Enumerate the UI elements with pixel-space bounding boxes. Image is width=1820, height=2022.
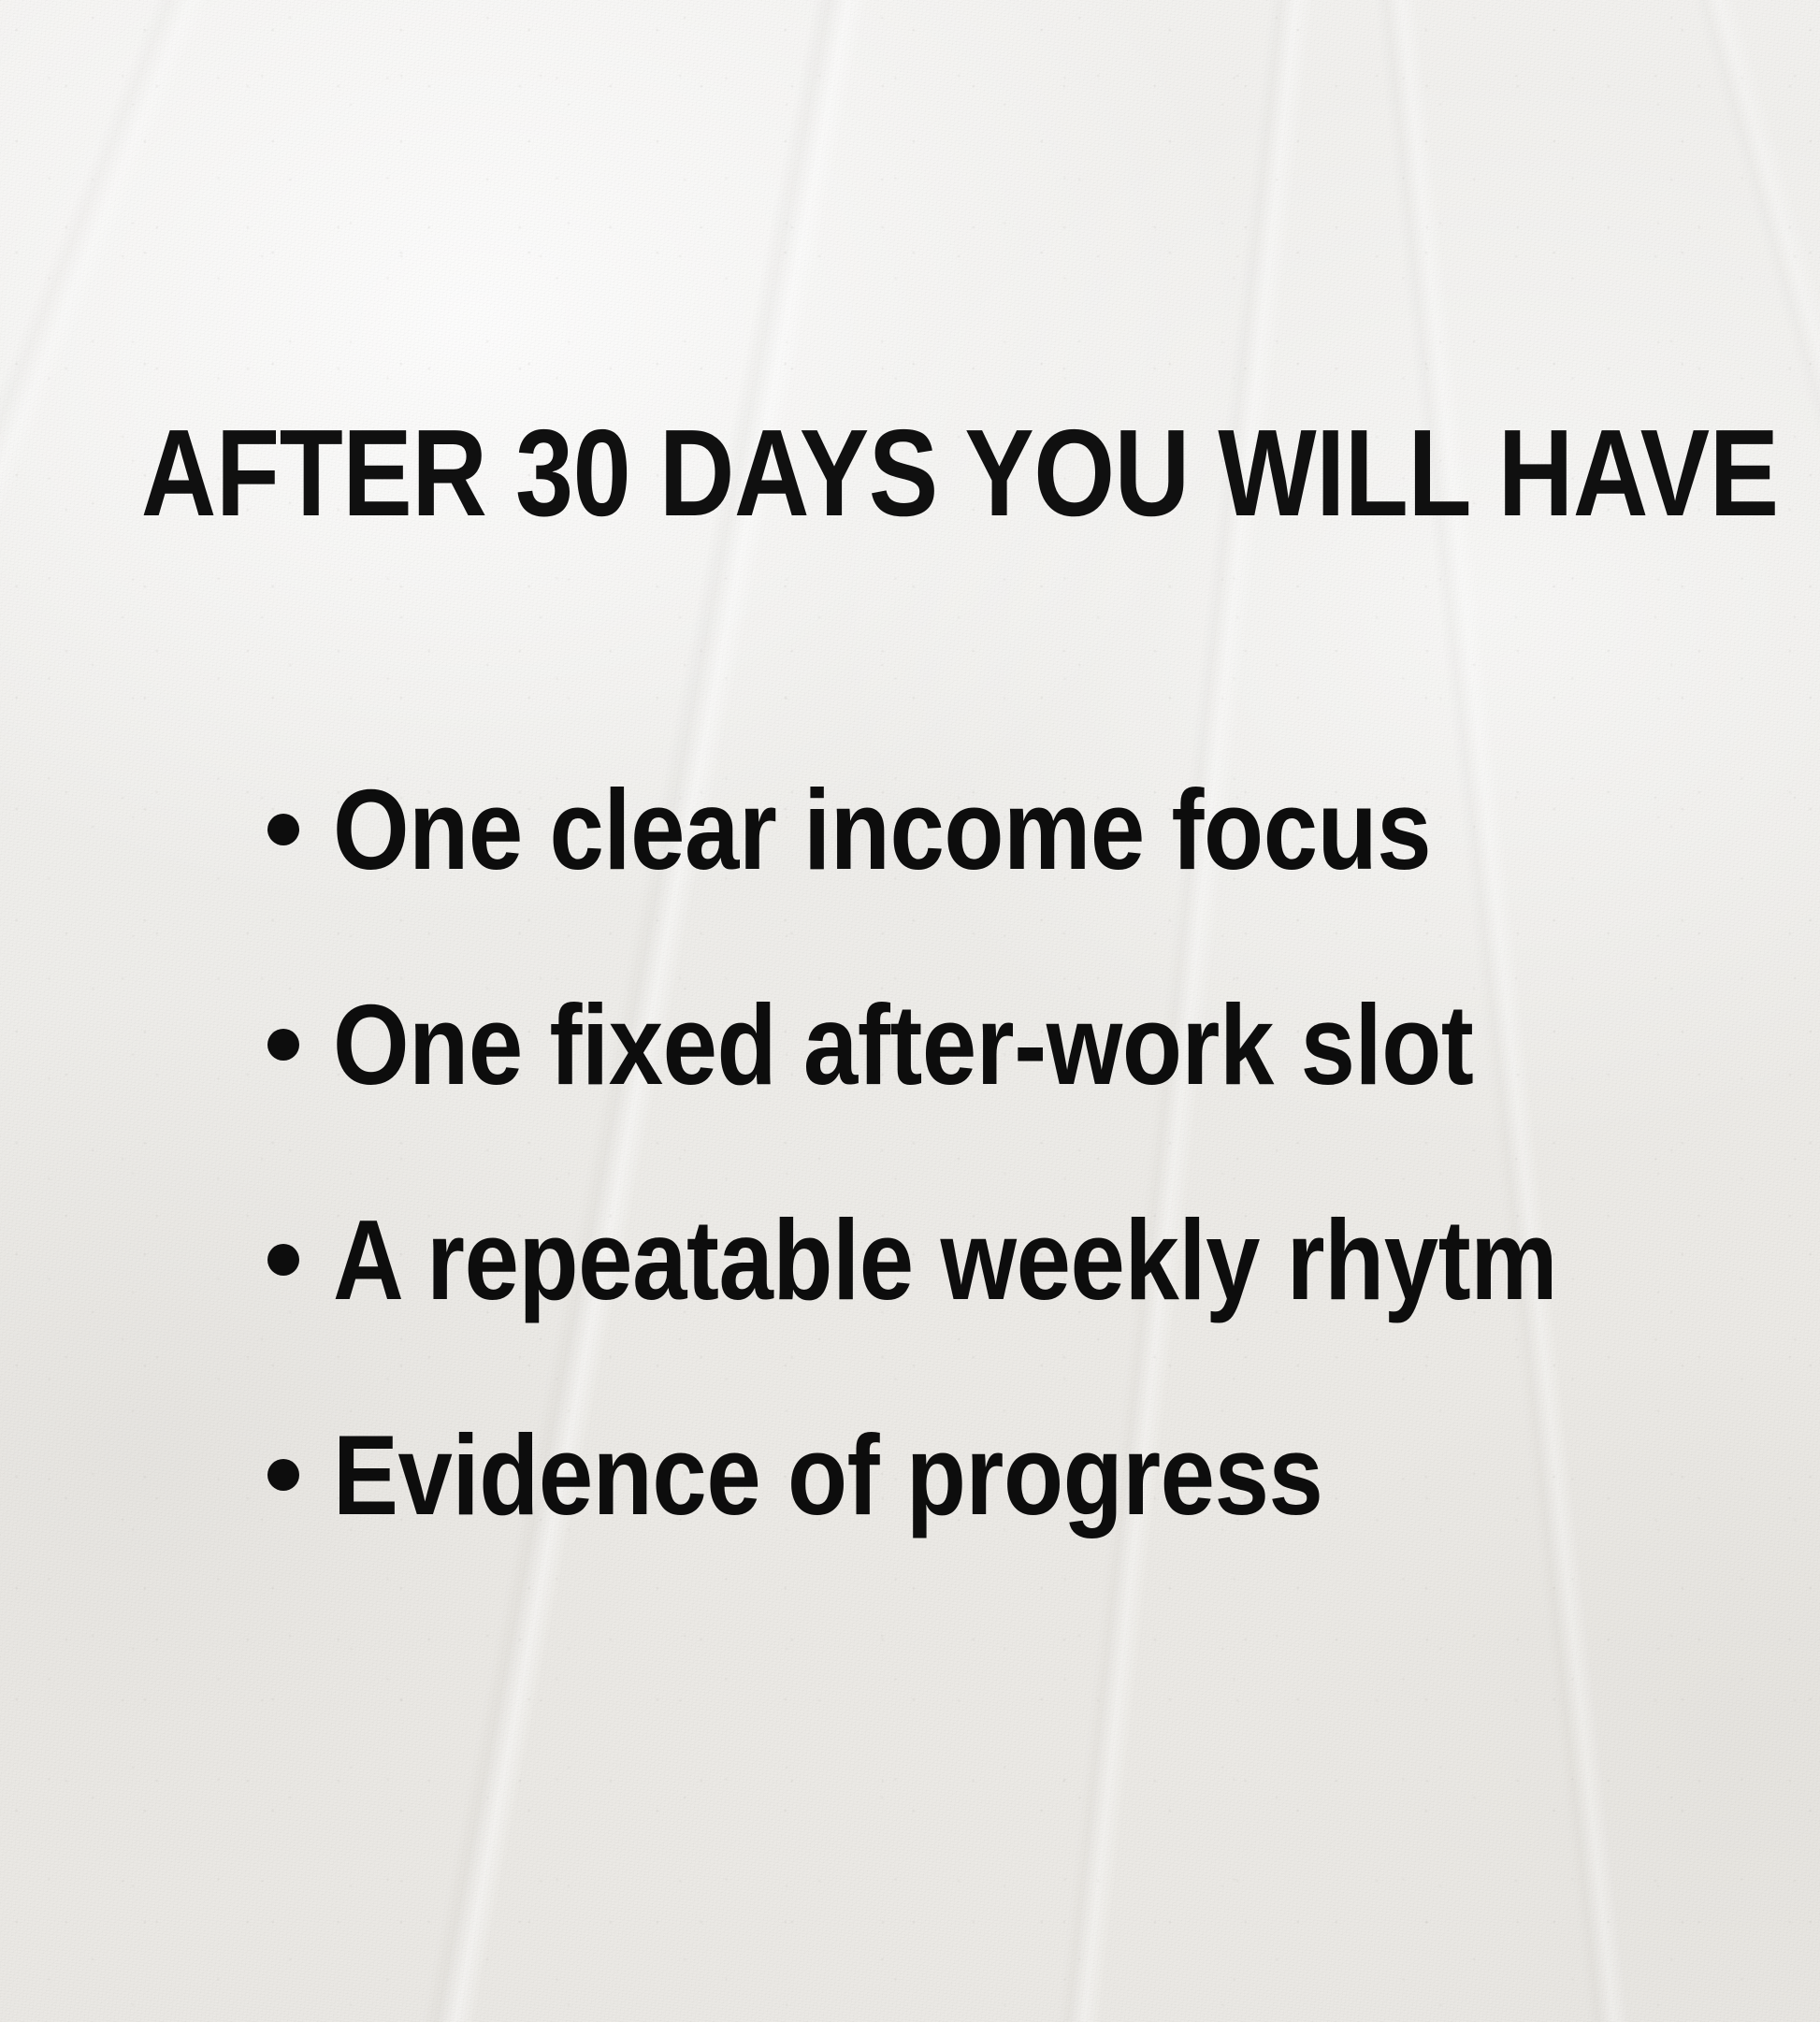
slide-content: AFTER 30 DAYS YOU WILL HAVE One clear in… (0, 0, 1820, 2022)
bullet-item-label: Evidence of progress (333, 1418, 1531, 1532)
bullet-item-label: One clear income focus (333, 773, 1531, 887)
list-item: One clear income focus (267, 773, 1726, 988)
bullet-dot-icon (267, 814, 299, 845)
bullet-dot-icon (267, 1459, 299, 1491)
list-item: A repeatable weekly rhytm (267, 1203, 1726, 1418)
slide-canvas: AFTER 30 DAYS YOU WILL HAVE One clear in… (0, 0, 1820, 2022)
bullet-item-label: One fixed after-work slot (333, 988, 1531, 1102)
bullet-item-label: A repeatable weekly rhytm (333, 1203, 1557, 1317)
slide-headline: AFTER 30 DAYS YOU WILL HAVE (141, 412, 1679, 535)
bullet-dot-icon (267, 1244, 299, 1276)
bullet-dot-icon (267, 1029, 299, 1061)
list-item: Evidence of progress (267, 1418, 1726, 1633)
list-item: One fixed after-work slot (267, 988, 1726, 1203)
benefits-bullet-list: One clear income focus One fixed after-w… (267, 773, 1726, 1633)
